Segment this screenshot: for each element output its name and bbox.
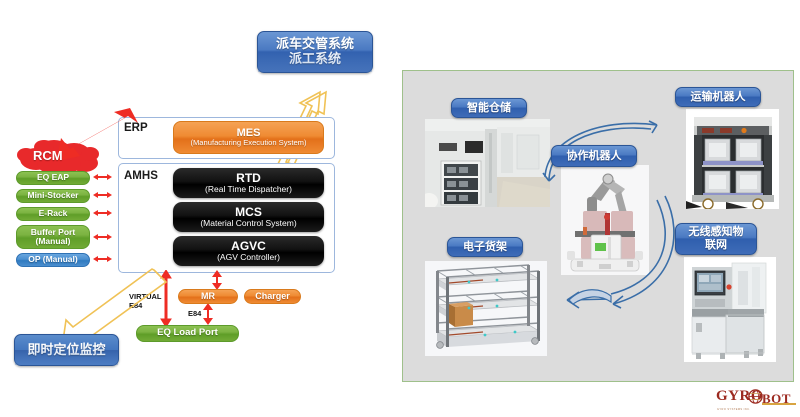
label-electronic-shelf: 电子货架	[447, 237, 523, 257]
label-collaborative-robot-text: 协作机器人	[567, 150, 622, 163]
title-box-dispatch-system: 派车交管系统 派工系统	[257, 31, 373, 73]
realtime-monitoring-box: 即时定位监控	[14, 334, 119, 366]
mes-box: MES (Manufacturing Execution System)	[173, 121, 324, 154]
pill-buffer-port: Buffer Port (Manual)	[16, 225, 90, 249]
label-collaborative-robot: 协作机器人	[551, 145, 637, 167]
globe-icon	[748, 389, 763, 404]
title-box-line2: 派工系统	[289, 52, 341, 67]
rcm-label: RCM	[33, 148, 63, 163]
agvc-subtitle: (AGV Controller)	[217, 253, 280, 263]
cleanroom-photo	[425, 119, 550, 207]
charger-label: Charger	[255, 291, 290, 301]
title-box-line1: 派车交管系统	[276, 37, 354, 52]
red-arrow-agvc-to-mr	[211, 270, 223, 290]
pill-e-rack-label: E-Rack	[39, 209, 68, 218]
red-double-arrows-left-stack	[93, 168, 117, 272]
shelf-rack-photo	[425, 261, 547, 356]
realtime-monitoring-label: 即时定位监控	[27, 343, 105, 358]
pill-buffer-port-line2: (Manual)	[36, 237, 71, 246]
pill-eq-eap-label: EQ EAP	[37, 173, 69, 182]
right-photo-panel: 智能仓储 运输机器人 协作机器人 电子货架 无线感知物 联网	[402, 70, 794, 382]
logo-tagline: GYRO SYSTEMS INC.	[717, 408, 796, 411]
charger-box: Charger	[244, 289, 301, 304]
rtd-subtitle: (Real Time Dispatcher)	[205, 185, 292, 195]
mes-subtitle: (Manufacturing Execution System)	[188, 139, 308, 148]
label-wireless-iot-line2: 联网	[705, 239, 727, 252]
amhs-group-label: AMHS	[124, 170, 158, 182]
label-smart-warehouse-text: 智能仓储	[467, 102, 511, 115]
e84-label: E84	[188, 309, 201, 318]
label-smart-warehouse: 智能仓储	[451, 98, 527, 118]
mr-label: MR	[201, 291, 215, 301]
label-transport-robot: 运输机器人	[675, 87, 761, 107]
pill-eq-eap: EQ EAP	[16, 171, 90, 185]
label-transport-robot-text: 运输机器人	[691, 91, 746, 104]
mcs-subtitle: (Material Control System)	[200, 219, 296, 229]
pill-mini-stocker-label: Mini-Stocker	[27, 191, 78, 200]
agvc-box: AGVC (AGV Controller)	[173, 236, 324, 266]
rtd-box: RTD (Real Time Dispatcher)	[173, 168, 324, 198]
blue-arrow-transport-to-shelf	[543, 196, 683, 316]
slide-canvas: 派车交管系统 派工系统 ERP MES (Manufacturing Execu…	[0, 0, 800, 417]
pill-op-manual: OP (Manual)	[16, 253, 90, 267]
red-arrow-mr-e84	[202, 303, 214, 325]
label-wireless-iot: 无线感知物 联网	[675, 223, 757, 255]
gyrobot-logo: GYRO BOT GYRO SYSTEMS INC.	[716, 388, 796, 412]
pill-op-manual-label: OP (Manual)	[28, 255, 77, 264]
pill-mini-stocker: Mini-Stocker	[16, 189, 90, 203]
logo-underline	[762, 403, 796, 405]
mr-box: MR	[178, 289, 238, 304]
red-arrow-rcm-to-erp	[52, 105, 147, 163]
label-electronic-shelf-text: 电子货架	[463, 241, 507, 254]
iot-equipment-photo	[684, 257, 776, 362]
label-wireless-iot-line1: 无线感知物	[689, 226, 744, 239]
mcs-title: MCS	[235, 206, 262, 219]
agvc-title: AGVC	[231, 240, 266, 253]
rtd-title: RTD	[236, 172, 261, 185]
mcs-box: MCS (Material Control System)	[173, 202, 324, 232]
transport-cart-photo	[686, 109, 779, 209]
pill-e-rack: E-Rack	[16, 207, 90, 221]
